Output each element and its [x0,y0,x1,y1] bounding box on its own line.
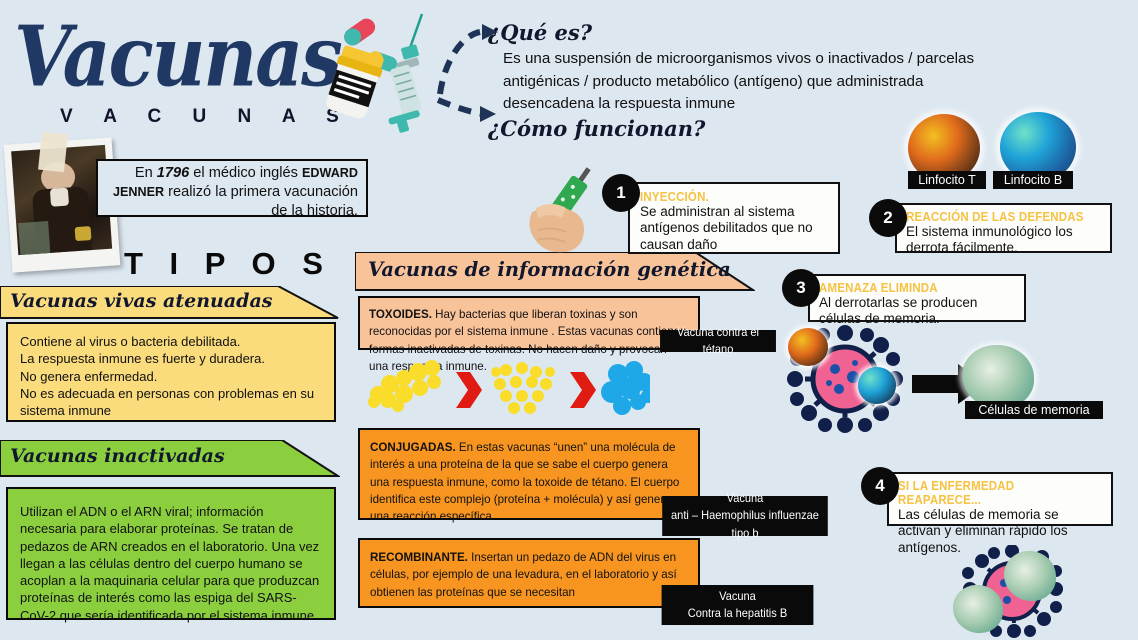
question-how-work: ¿Cómo funcionan? [488,116,705,141]
question-what-is: ¿Qué es? [488,20,592,45]
step-1-title: INYECCIÓN. [640,190,813,204]
tag-hib-line-2: anti – Haemophilus influenzae tipo b [668,507,823,542]
tipos-heading: T I P O S [124,246,332,282]
step-3-card: AMENAZA ELIMINDA Al derrotarlas se produ… [808,274,1026,322]
tag-hep-line-1: Vacuna [719,588,756,605]
tag-hepatitis-vaccine: Vacuna Contra la hepatitis B [662,585,814,625]
page-subtitle: V A C U N A S [60,106,352,128]
tag-hib-line-1: Vacuna [727,490,764,507]
infographic-canvas: Vacunas V A C U N A S [0,0,1138,640]
live-line-1: Contiene al virus o bacteria debilitada. [20,333,322,350]
lymphocyte-b-small-image [858,367,896,404]
card-inactivated-banner: Vacunas inactivadas [0,440,340,478]
page-title: Vacunas [14,16,341,99]
step-3-number: 3 [782,269,820,307]
live-line-3: No genera enfermedad. [20,368,322,385]
answer-what-is: Es una suspensión de microorganismos viv… [503,48,1001,116]
step-3-body: Al derrotarlas se producen células de me… [819,295,1015,328]
history-year: 1796 [157,165,189,181]
live-line-2: La respuesta inmune es fuerte y duradera… [20,350,322,367]
lymphocyte-t-small-image [788,328,828,366]
history-note: En 1796 el médico inglés EDWARD JENNER r… [96,159,368,217]
card-inactivated-title: Vacunas inactivadas [10,445,225,467]
step-1-card: INYECCIÓN. Se administran al sistema ant… [628,182,840,254]
history-prefix: En [135,165,157,181]
step-1-number: 1 [602,174,640,212]
toxoides-label: TOXOIDES. [369,308,432,321]
memory-cell-small-2 [953,585,1003,633]
card-inactivated-body: Utilizan el ADN o el ARN viral; informac… [6,487,336,620]
lymphocyte-b-label: Linfocito B [993,171,1073,189]
tag-hib-vaccine: Vacuna anti – Haemophilus influenzae tip… [662,496,828,536]
card-live-attenuated-title: Vacunas vivas atenuadas [10,290,272,312]
genetic-banner-title: Vacunas de información genética [368,258,731,281]
step-2-title: REACCIÓN DE LAS DEFENDAS [906,210,1085,224]
step-4-number: 4 [861,467,899,505]
card-toxoides: TOXOIDES. Hay bacterias que liberan toxi… [358,296,700,350]
step-4-title: SI LA ENFERMEDAD REAPARECE... [898,479,1086,507]
recombinante-label: RECOMBINANTE. [370,551,468,564]
lymphocyte-t-label: Linfocito T [908,171,986,189]
card-conjugadas: CONJUGADAS. En estas vacunas “unen” una … [358,428,700,520]
memory-cells-label: Células de memoria [965,401,1103,419]
molecule-transformation-icon [360,352,650,424]
tag-tetanus-line-1: Vacuna contra el tétano [666,324,771,359]
history-suffix: realizó la primera vacunación de la hist… [164,184,358,219]
card-recombinante: RECOMBINANTE. Insertan un pedazo de ADN … [358,538,700,608]
live-line-4: No es adecuada en personas con problemas… [20,385,322,420]
hand-injection-icon [518,160,610,260]
memory-cell-small-1 [1004,551,1056,601]
step-3-title: AMENAZA ELIMINDA [819,281,999,295]
memory-cells-image [962,345,1034,409]
card-live-attenuated-banner: Vacunas vivas atenuadas [0,286,340,320]
card-live-attenuated-body: Contiene al virus o bacteria debilitada.… [6,322,336,422]
conjugadas-label: CONJUGADAS. [370,441,456,454]
step-4-card: SI LA ENFERMEDAD REAPARECE... Las célula… [887,472,1113,526]
polaroid-tape-icon [38,132,68,173]
step-2-card: REACCIÓN DE LAS DEFENDAS El sistema inmu… [895,203,1112,253]
step-2-number: 2 [869,199,907,237]
history-middle: el médico inglés [189,165,302,181]
tag-hep-line-2: Contra la hepatitis B [688,605,787,622]
inactivated-text: Utilizan el ADN o el ARN viral; informac… [20,503,322,624]
tag-tetanus-vaccine: Vacuna contra el tétano [660,330,776,352]
step-2-body: El sistema inmunológico los derrota fáci… [906,224,1101,257]
step-1-body: Se administran al sistema antígenos debi… [640,204,828,253]
